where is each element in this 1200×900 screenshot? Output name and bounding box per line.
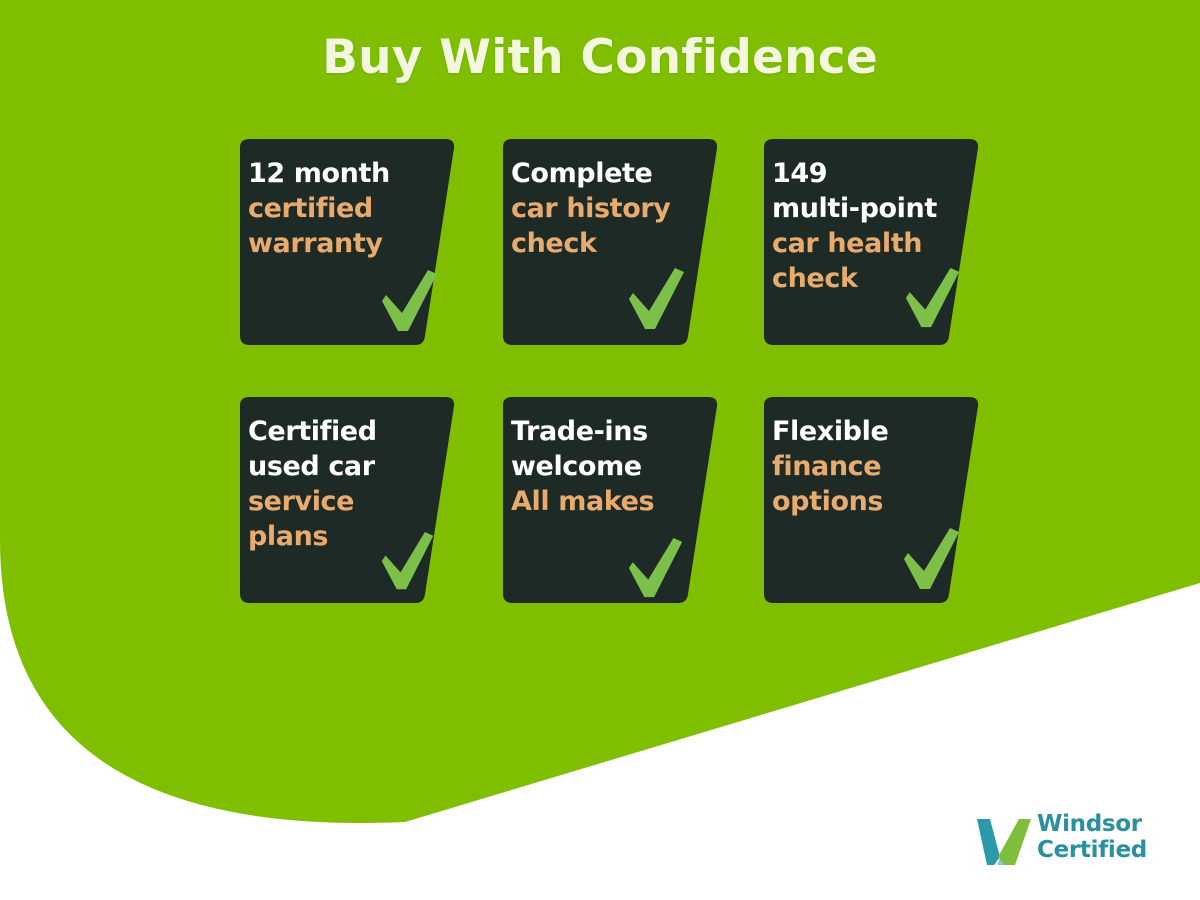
card-text: 12 month certified warranty [248,156,434,261]
logo-wordmark: Windsor Certified [1037,812,1147,864]
check-tick-icon [900,526,964,594]
poster-canvas: Buy With Confidence 12 month certified w… [0,0,1200,900]
card-line: car history [511,191,697,226]
check-tick-icon [625,266,689,334]
card-line: options [772,484,958,519]
card-line: welcome [511,449,697,484]
check-tick-icon [378,530,438,594]
card-line: used car [248,449,434,484]
benefit-card[interactable]: Trade-ins welcome All makes [489,396,737,606]
card-line: Flexible [772,414,958,449]
card-line: 12 month [248,156,434,191]
check-tick-icon [625,536,687,602]
logo-line-2: Certified [1037,838,1147,864]
card-text: Trade-ins welcome All makes [511,414,697,519]
benefit-card[interactable]: Flexible finance options [750,396,998,606]
logo-line-1: Windsor [1037,811,1142,837]
card-line: car health [772,226,958,261]
windsor-certified-logo[interactable]: Windsor Certified [975,812,1155,874]
card-line: All makes [511,484,697,519]
card-line: finance [772,449,958,484]
windsor-w-icon [975,816,1033,868]
card-line: check [511,226,697,261]
benefits-grid: 12 month certified warranty Complete car… [0,0,1200,900]
card-line: Complete [511,156,697,191]
card-line: service [248,484,434,519]
card-line: warranty [248,226,434,261]
benefit-card[interactable]: Certified used car service plans [226,396,474,606]
check-tick-icon [902,266,964,332]
benefit-card[interactable]: 149 multi-point car health check [750,138,998,348]
card-line: Certified [248,414,434,449]
card-line: 149 [772,156,958,191]
check-tick-icon [378,268,442,336]
card-line: certified [248,191,434,226]
benefit-card[interactable]: 12 month certified warranty [226,138,474,348]
card-line: multi-point [772,191,958,226]
card-line: Trade-ins [511,414,697,449]
card-text: Flexible finance options [772,414,958,519]
card-text: Complete car history check [511,156,697,261]
benefit-card[interactable]: Complete car history check [489,138,737,348]
